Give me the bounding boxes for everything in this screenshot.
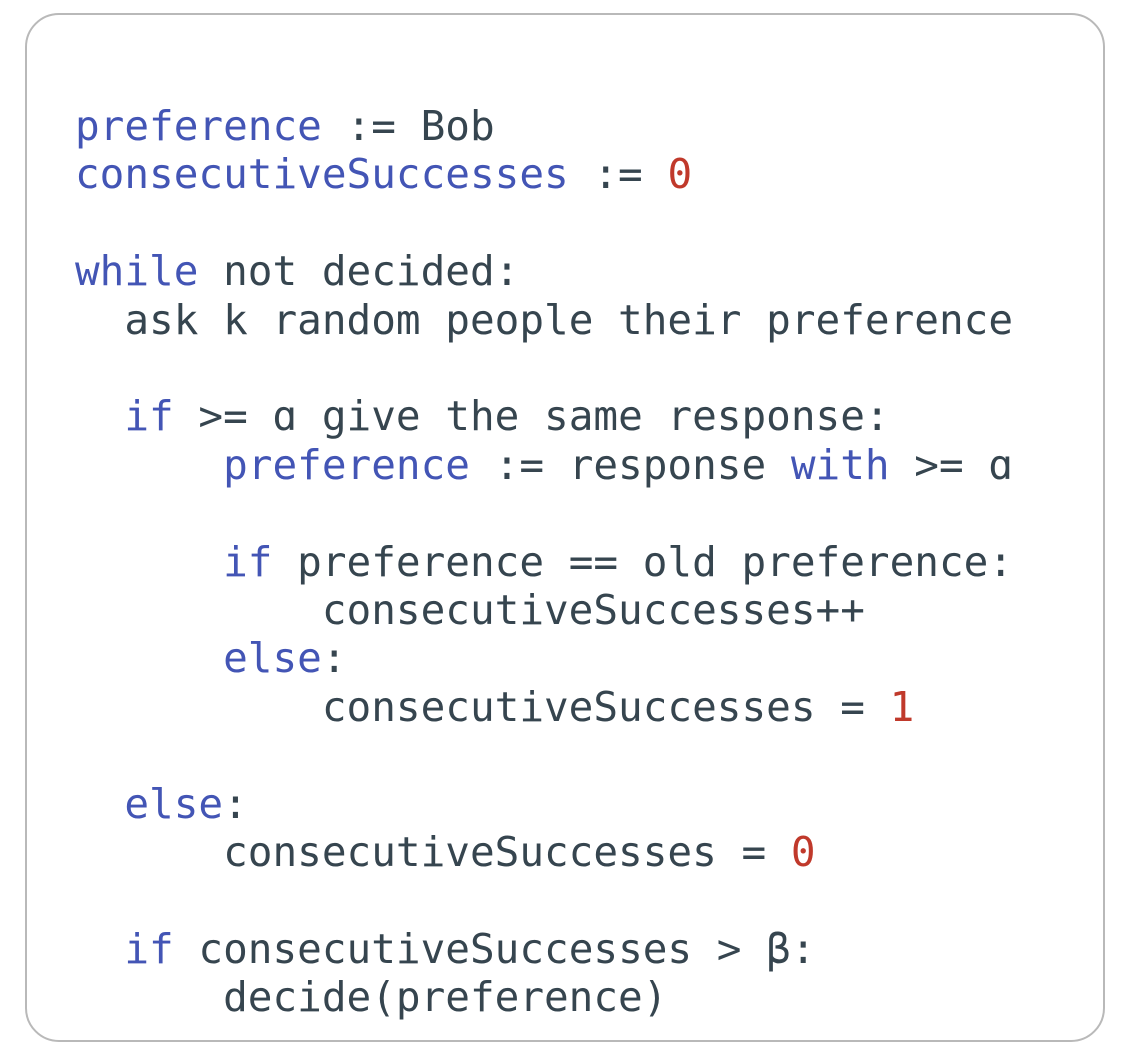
code-token-kw: else [124, 780, 223, 828]
code-token-txt: consecutiveSuccesses = [223, 828, 791, 876]
code-token-txt: := response [470, 441, 791, 489]
code-line: decide(preference) [75, 973, 1013, 1021]
code-indent [75, 392, 124, 440]
code-token-num: 1 [890, 683, 915, 731]
code-token-txt: ask k random people their preference [124, 296, 1013, 344]
code-indent [75, 925, 124, 973]
code-token-txt: := Bob [322, 102, 495, 150]
code-line: if preference == old preference: [75, 538, 1013, 586]
code-line [75, 489, 1013, 537]
code-token-var: preference [223, 441, 470, 489]
code-token-txt: not decided: [198, 247, 519, 295]
code-line [75, 344, 1013, 392]
code-line: if >= ɑ give the same response: [75, 392, 1013, 440]
code-line: else: [75, 780, 1013, 828]
code-indent [75, 683, 322, 731]
code-token-txt: decide(preference) [223, 973, 667, 1021]
code-line: consecutiveSuccesses := 0 [75, 150, 1013, 198]
code-token-kw: if [223, 538, 272, 586]
code-line [75, 876, 1013, 924]
code-indent [75, 973, 223, 1021]
code-indent [75, 441, 223, 489]
code-token-txt: : [223, 780, 248, 828]
code-line [75, 199, 1013, 247]
code-token-txt: : [322, 634, 347, 682]
code-line: ask k random people their preference [75, 296, 1013, 344]
code-line: consecutiveSuccesses++ [75, 586, 1013, 634]
code-token-kw: if [124, 925, 173, 973]
code-line: preference := Bob [75, 102, 1013, 150]
code-indent [75, 780, 124, 828]
code-token-kw: while [75, 247, 198, 295]
code-token-txt: consecutiveSuccesses = [322, 683, 890, 731]
code-indent [75, 538, 223, 586]
code-indent [75, 634, 223, 682]
code-token-txt: >= ɑ [890, 441, 1013, 489]
pseudocode-block: preference := Bob consecutiveSuccesses :… [75, 102, 1013, 1022]
code-token-kw: else [223, 634, 322, 682]
code-indent [75, 586, 322, 634]
code-token-var: preference [75, 102, 322, 150]
code-token-kw: with [791, 441, 890, 489]
code-token-txt: := [569, 150, 668, 198]
code-indent [75, 828, 223, 876]
code-token-num: 0 [667, 150, 692, 198]
code-token-txt: consecutiveSuccesses > β: [174, 925, 816, 973]
code-token-txt: consecutiveSuccesses++ [322, 586, 865, 634]
code-token-kw: if [124, 392, 173, 440]
code-token-num: 0 [791, 828, 816, 876]
code-token-var: consecutiveSuccesses [75, 150, 569, 198]
code-line: else: [75, 634, 1013, 682]
code-line: preference := response with >= ɑ [75, 441, 1013, 489]
code-indent [75, 296, 124, 344]
code-line: consecutiveSuccesses = 0 [75, 828, 1013, 876]
code-line [75, 731, 1013, 779]
code-card: preference := Bob consecutiveSuccesses :… [25, 13, 1105, 1042]
code-line: while not decided: [75, 247, 1013, 295]
code-line: if consecutiveSuccesses > β: [75, 925, 1013, 973]
code-token-txt: preference == old preference: [272, 538, 1013, 586]
code-line: consecutiveSuccesses = 1 [75, 683, 1013, 731]
code-token-txt: >= ɑ give the same response: [174, 392, 890, 440]
page-root: preference := Bob consecutiveSuccesses :… [0, 0, 1122, 1060]
